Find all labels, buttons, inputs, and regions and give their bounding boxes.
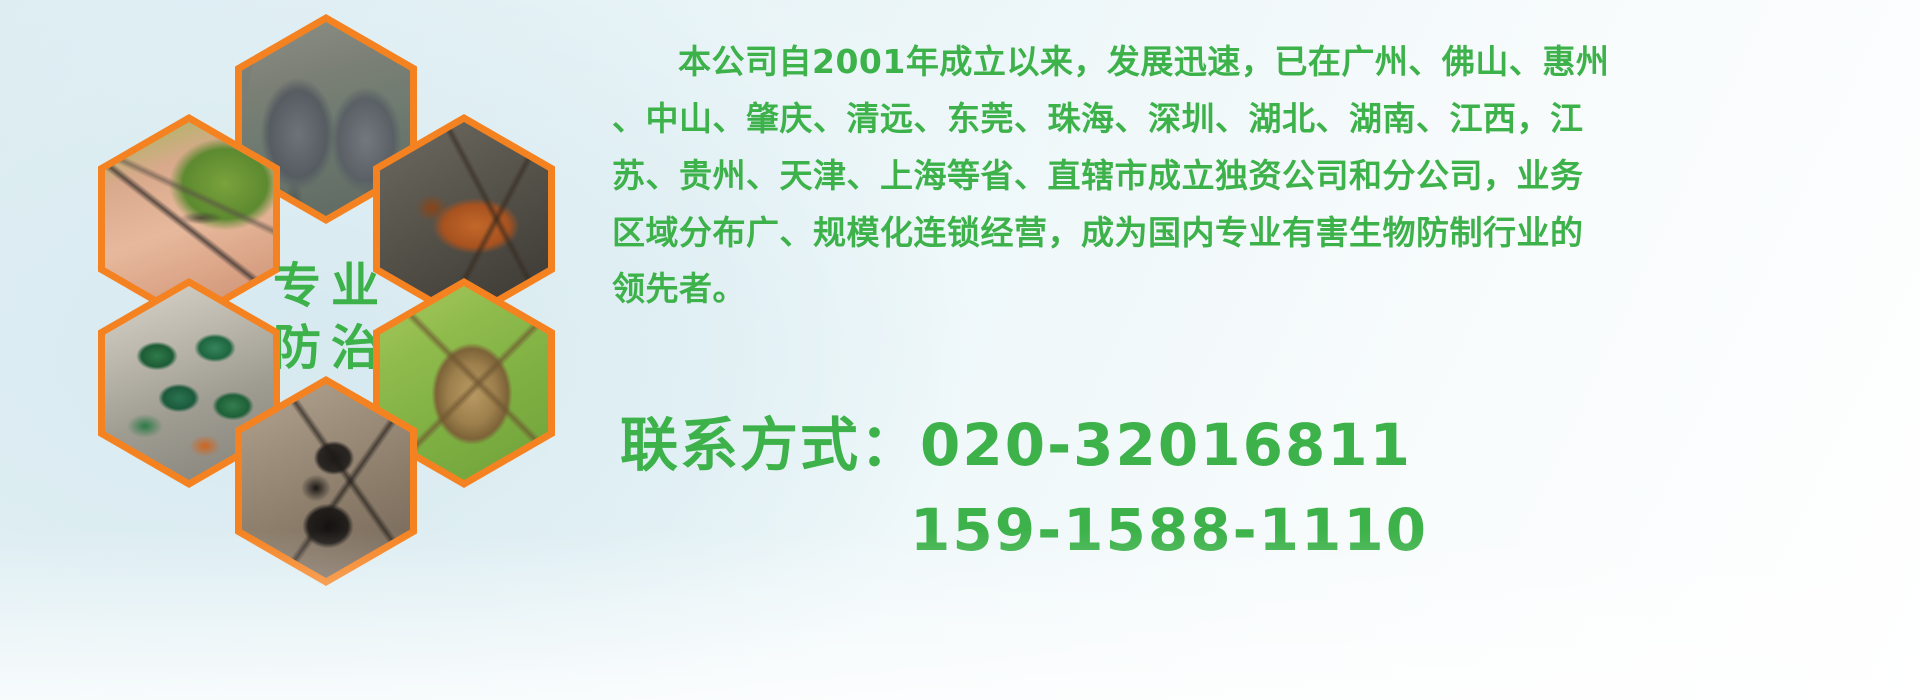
intro-line-3: 苏、贵州、天津、上海等省、直辖市成立独资公司和分公司，业务 [612, 152, 1912, 200]
intro-line-1: 本公司自2001年成立以来，发展迅速，已在广州、佛山、惠州 [612, 38, 1912, 86]
contact-primary-line: 联系方式：020-32016811 [620, 398, 1920, 482]
logo-line-2: 防治 [263, 324, 389, 372]
logo-line-1: 专业 [263, 262, 389, 310]
intro-line-2: 、中山、肇庆、清远、东莞、珠海、深圳、湖北、湖南、江西，江 [612, 95, 1912, 143]
honeycomb-photo-collage: 专业 防治 [88, 14, 588, 559]
contact-label: 联系方式： [620, 411, 920, 479]
intro-line-4: 区域分布广、规模化连锁经营，成为国内专业有害生物防制行业的 [612, 209, 1912, 257]
company-intro-paragraph: 本公司自2001年成立以来，发展迅速，已在广州、佛山、惠州 、中山、肇庆、清远、… [612, 38, 1912, 322]
ant-photo [242, 384, 410, 578]
contact-phone-secondary[interactable]: 159-1588-1110 [620, 496, 1920, 564]
contact-block: 联系方式：020-32016811 159-1588-1110 [620, 398, 1920, 564]
promo-banner: 专业 防治 本公司自2001年成立以来，发展迅速，已在广州、佛山、惠州 、中山、… [0, 0, 1920, 700]
hex-inner-ant [242, 384, 410, 578]
intro-line-5: 领先者。 [612, 265, 1912, 313]
contact-phone-primary[interactable]: 020-32016811 [920, 411, 1412, 479]
